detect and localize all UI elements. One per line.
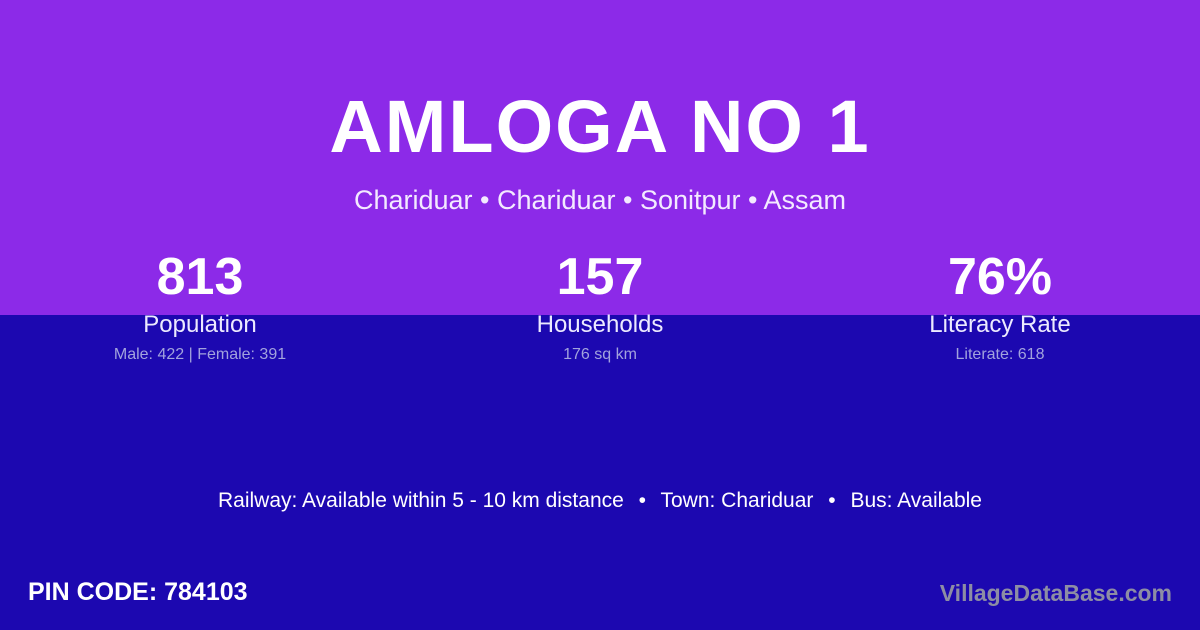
breadcrumb: Chariduar • Chariduar • Sonitpur • Assam (0, 183, 1200, 217)
stat-value-literacy-rate: 76% (800, 248, 1200, 310)
stat-sub-literacy-rate: Literate: 618 (800, 344, 1200, 366)
amenity-bus: Bus: Available (850, 489, 982, 512)
stat-label-households: Households (400, 310, 800, 344)
amenities-line: Railway: Available within 5 - 10 km dist… (0, 487, 1200, 515)
stat-label-literacy-rate: Literacy Rate (800, 310, 1200, 344)
amenity-town: Town: Chariduar (660, 489, 813, 512)
stat-label-population: Population (0, 310, 400, 344)
statistics-row: 813 Population Male: 422 | Female: 391 1… (0, 248, 1200, 366)
stat-population: 813 Population Male: 422 | Female: 391 (0, 248, 400, 366)
stat-sub-households: 176 sq km (400, 344, 800, 366)
stat-value-households: 157 (400, 248, 800, 310)
stat-households: 157 Households 176 sq km (400, 248, 800, 366)
site-watermark: VillageDataBase.com (940, 577, 1172, 609)
bullet-separator-icon: • (819, 489, 844, 512)
card-footer: PIN CODE: 784103 VillageDataBase.com (0, 575, 1200, 615)
bullet-separator-icon: • (630, 489, 655, 512)
stat-value-population: 813 (0, 248, 400, 310)
pin-code-label: PIN CODE: 784103 (28, 575, 248, 609)
amenity-railway: Railway: Available within 5 - 10 km dist… (218, 489, 624, 512)
page-title: AMLOGA NO 1 (0, 82, 1200, 172)
village-info-card: AMLOGA NO 1 Chariduar • Chariduar • Soni… (0, 0, 1200, 630)
stat-literacy-rate: 76% Literacy Rate Literate: 618 (800, 248, 1200, 366)
stat-sub-population: Male: 422 | Female: 391 (0, 344, 400, 366)
